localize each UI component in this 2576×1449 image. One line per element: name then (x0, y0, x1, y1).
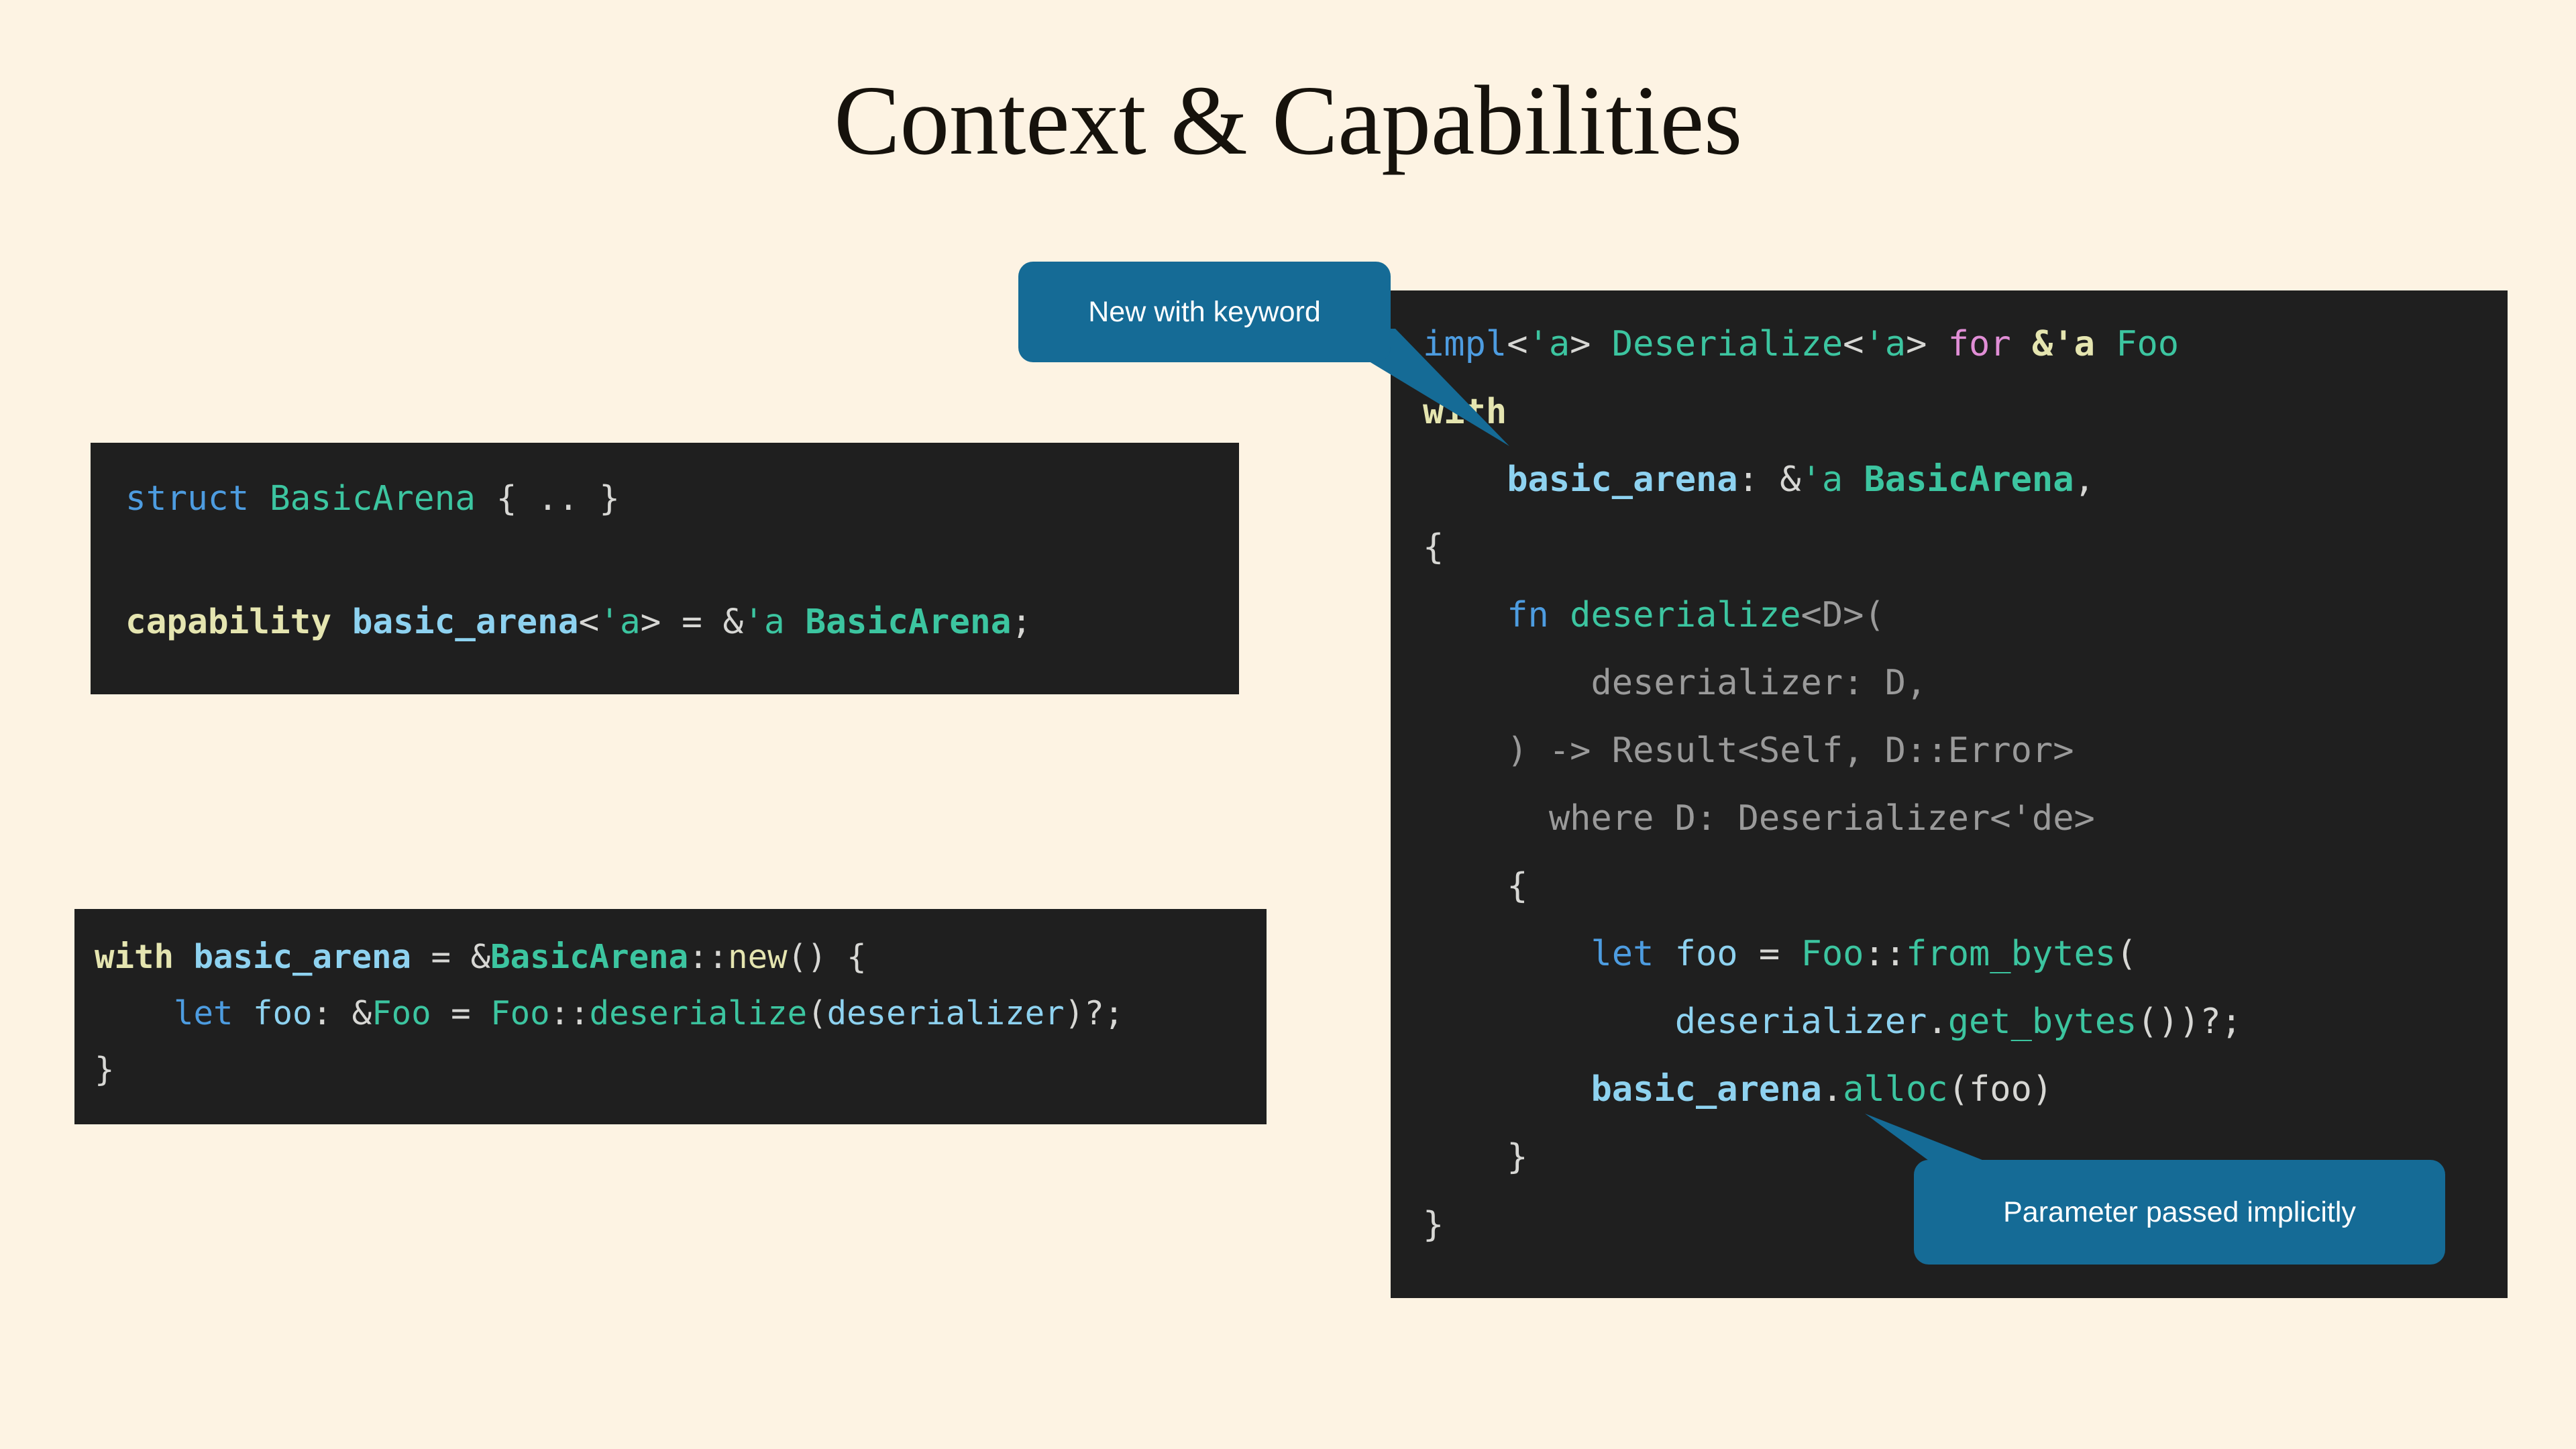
code-block-struct-basicarena: struct BasicArena { .. } capability basi… (91, 443, 1239, 694)
token-keyword-fn: fn (1507, 595, 1549, 635)
code-line: with basic_arena = &BasicArena::new() { (95, 938, 867, 976)
token-colons2: :: (550, 994, 590, 1032)
token-keyword-let: let (1591, 934, 1654, 974)
callout-parameter-passed[interactable]: Parameter passed implicitly (1914, 1160, 2445, 1265)
code-block-with-basicarena: with basic_arena = &BasicArena::new() { … (74, 909, 1267, 1124)
token-fn-from-bytes: from_bytes (1906, 934, 2116, 974)
token-return-type: ) -> Result<Self, D::Error> (1507, 731, 2074, 771)
token-type-basicarena: BasicArena (1843, 460, 2074, 500)
token-var-deserializer: deserializer (827, 994, 1065, 1032)
code-line-blank (125, 541, 146, 580)
token-type-foo: Foo (2095, 324, 2179, 364)
token-dot2: . (1822, 1069, 1843, 1110)
token-type-foo2: Foo (490, 994, 550, 1032)
code-line: fn deserialize<D>( (1423, 595, 1885, 635)
token-generic-close: > (641, 602, 661, 642)
code-line: let foo = Foo::from_bytes( (1423, 934, 2137, 974)
token-type-basicarena: BasicArena (490, 938, 688, 976)
token-colon: : (1738, 460, 1780, 500)
token-ampersand: & (1780, 460, 1801, 500)
token-space (249, 479, 270, 519)
token-open-brace: () { (788, 938, 867, 976)
code-line: { (1423, 866, 1528, 906)
token-arg-foo: (foo) (1948, 1069, 2053, 1110)
token-keyword-for: for (1948, 324, 2011, 364)
token-var-basic-arena2: basic_arena (1591, 1069, 1821, 1110)
code-line: basic_arena.alloc(foo) (1423, 1069, 2053, 1110)
page-title: Context & Capabilities (0, 66, 2576, 177)
code-line: let foo: &Foo = Foo::deserialize(deseria… (95, 994, 1124, 1032)
code-line: basic_arena: &'a BasicArena, (1423, 460, 2095, 500)
token-indent (1423, 1137, 1507, 1177)
code-line: impl<'a> Deserialize<'a> for &'a Foo (1423, 324, 2179, 364)
token-keyword-with: with (1423, 392, 1507, 432)
token-var-foo: foo (233, 994, 313, 1032)
code-line: } (1423, 1137, 1528, 1177)
token-fn-get-bytes: get_bytes (1948, 1002, 2137, 1042)
token-indent (1423, 866, 1507, 906)
token-braces: { .. } (476, 479, 620, 519)
token-indent (1423, 460, 1507, 500)
token-comma: , (2074, 460, 2095, 500)
token-type-basicarena: BasicArena (270, 479, 476, 519)
token-amp-lifetime: &'a (2032, 324, 2095, 364)
token-trait-deserialize: Deserialize (1612, 324, 1843, 364)
token-where-clause: where D: Deserializer<'de> (1549, 798, 2095, 839)
token-inner-close-brace: } (1507, 1137, 1527, 1177)
token-space (331, 602, 352, 642)
token-keyword-let: let (174, 994, 233, 1032)
token-lparen: ( (807, 994, 827, 1032)
token-close-call: ())?; (2137, 1002, 2242, 1042)
token-indent (1423, 663, 1591, 703)
token-ampersand: & (471, 938, 491, 976)
token-space (2011, 324, 2032, 364)
token-indent (1423, 1002, 1675, 1042)
token-indent (1423, 595, 1507, 635)
token-var-basic-arena: basic_arena (194, 938, 412, 976)
callout-label: Parameter passed implicitly (2003, 1196, 2356, 1229)
code-block-impl-deserialize: impl<'a> Deserialize<'a> for &'a Foo wit… (1391, 290, 2508, 1298)
callout-label: New with keyword (1088, 296, 1321, 329)
token-fn-new: new (728, 938, 788, 976)
token-keyword-capability: capability (125, 602, 331, 642)
token-var-foo: foo (1654, 934, 1737, 974)
token-keyword-with: with (95, 938, 174, 976)
token-generic-d: <D>( (1801, 595, 1885, 635)
token-indent (1423, 798, 1549, 839)
token-var-basic-arena: basic_arena (352, 602, 579, 642)
token-fn-alloc: alloc (1843, 1069, 1948, 1110)
token-lparen: ( (2116, 934, 2137, 974)
token-lifetime-a: 'a (1528, 324, 1570, 364)
code-line: } (95, 1051, 115, 1089)
token-lifetime-a: 'a (599, 602, 640, 642)
token-colon: : (313, 994, 352, 1032)
token-close-brace: } (95, 1051, 115, 1089)
code-line: struct BasicArena { .. } (125, 479, 620, 519)
token-type-foo: Foo (372, 994, 431, 1032)
token-semicolon: ; (1011, 602, 1032, 642)
token-dot: . (1927, 1002, 1947, 1042)
token-open-brace: { (1423, 527, 1444, 568)
token-generic-lifetime: < (579, 602, 600, 642)
token-fn-deserialize: deserialize (1549, 595, 1801, 635)
token-indent (1423, 1069, 1591, 1110)
token-lt: < (1507, 324, 1527, 364)
token-gt: > (1570, 324, 1612, 364)
token-var-basic-arena: basic_arena (1507, 460, 1737, 500)
token-close-brace: } (1423, 1205, 1444, 1245)
token-equals: = (411, 938, 471, 976)
token-equals: = (1738, 934, 1801, 974)
slide-canvas: Context & Capabilities struct BasicArena… (0, 0, 2576, 1449)
token-param-deserializer: deserializer: D, (1591, 663, 1927, 703)
token-equals: = (661, 602, 722, 642)
token-ampersand: & (723, 602, 744, 642)
callout-new-with-keyword[interactable]: New with keyword (1018, 262, 1391, 362)
token-colons: :: (1864, 934, 1906, 974)
token-fn-deserialize: deserialize (590, 994, 808, 1032)
token-keyword-struct: struct (125, 479, 249, 519)
token-type-basicarena2: BasicArena (785, 602, 1012, 642)
token-type-foo2: Foo (1801, 934, 1864, 974)
token-indent (95, 994, 174, 1032)
code-line: deserializer: D, (1423, 663, 1927, 703)
code-line: { (1423, 527, 1444, 568)
code-line: deserializer.get_bytes())?; (1423, 1002, 2242, 1042)
token-indent (1423, 934, 1591, 974)
code-line: with (1423, 392, 1507, 432)
token-lifetime-a2: 'a (743, 602, 784, 642)
token-ampersand2: & (352, 994, 372, 1032)
token-lt2: < (1843, 324, 1864, 364)
token-rparen-question: )?; (1065, 994, 1124, 1032)
token-inner-open-brace: { (1507, 866, 1527, 906)
token-equals2: = (431, 994, 491, 1032)
token-gt2: > (1906, 324, 1948, 364)
code-line: ) -> Result<Self, D::Error> (1423, 731, 2074, 771)
token-keyword-impl: impl (1423, 324, 1507, 364)
code-line: where D: Deserializer<'de> (1423, 798, 2095, 839)
token-colons: :: (688, 938, 728, 976)
token-indent (1423, 731, 1507, 771)
code-line: } (1423, 1205, 1444, 1245)
token-space (174, 938, 194, 976)
token-var-deserializer: deserializer (1675, 1002, 1927, 1042)
token-lifetime-a2: 'a (1864, 324, 1906, 364)
token-lifetime-a3: 'a (1801, 460, 1843, 500)
code-line: capability basic_arena<'a> = &'a BasicAr… (125, 602, 1032, 642)
